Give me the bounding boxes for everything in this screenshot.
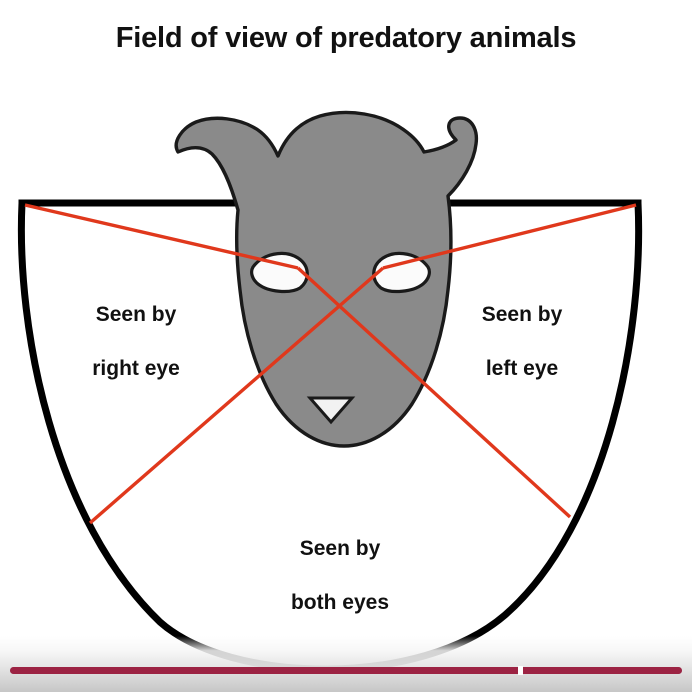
progress-fill[interactable]: [10, 667, 682, 674]
label-left-eye-line2: left eye: [432, 342, 612, 396]
label-seen-by-right-eye: Seen by right eye: [46, 288, 226, 396]
label-both-eyes-line1: Seen by: [240, 522, 440, 576]
label-seen-by-both-eyes: Seen by both eyes: [240, 522, 440, 630]
video-frame: Field of view of predatory animals: [0, 0, 692, 692]
chapter-marker[interactable]: [518, 666, 523, 675]
label-right-eye-line1: Seen by: [46, 288, 226, 342]
label-left-eye-line1: Seen by: [432, 288, 612, 342]
label-seen-by-left-eye: Seen by left eye: [432, 288, 612, 396]
label-right-eye-line2: right eye: [46, 342, 226, 396]
label-both-eyes-line2: both eyes: [240, 576, 440, 630]
